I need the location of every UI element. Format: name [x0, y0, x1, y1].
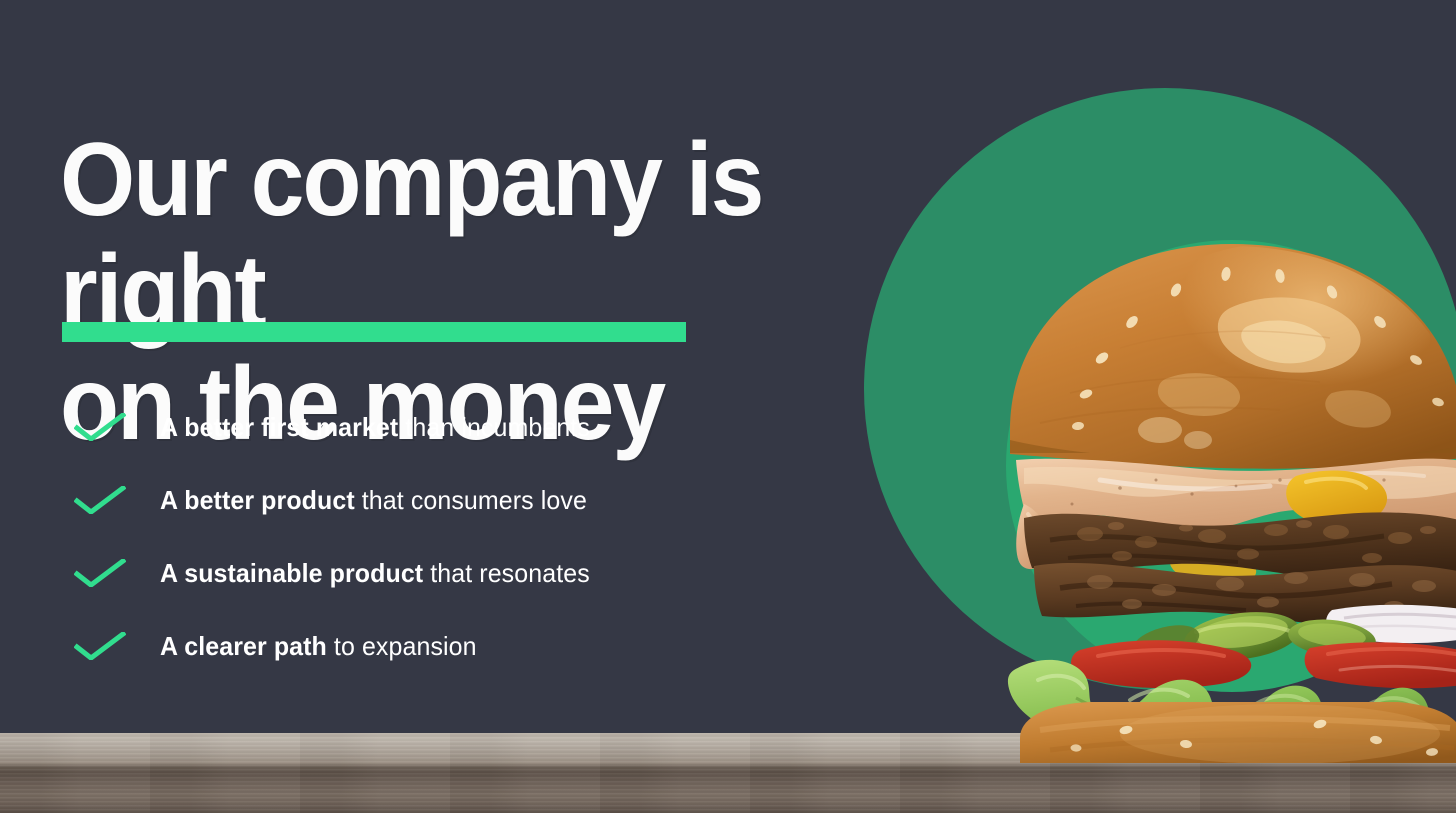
cheeseburger-photo	[980, 218, 1456, 763]
list-item-bold: A better product	[160, 485, 355, 515]
check-icon	[74, 559, 126, 587]
bun-top	[1010, 243, 1456, 469]
bun-bottom	[1020, 702, 1456, 763]
list-item-rest: that resonates	[423, 558, 590, 588]
list-item: A clearer path to expansion	[60, 609, 608, 682]
list-item-rest: that consumers love	[355, 485, 587, 515]
list-item-label: A clearer path to expansion	[160, 631, 477, 661]
list-item-rest: to expansion	[327, 631, 477, 661]
list-item: A better product that consumers love	[60, 463, 608, 536]
list-item-bold: A clearer path	[160, 631, 327, 661]
list-item-bold: A sustainable product	[160, 558, 423, 588]
list-item-rest: than incumbents	[398, 412, 590, 442]
benefits-list: A better first market than incumbents A …	[60, 390, 608, 682]
check-icon	[74, 632, 126, 660]
list-item: A better first market than incumbents	[60, 390, 608, 463]
presentation-slide: Our company is right on the money A bett…	[0, 0, 1456, 813]
headline-accent-underline	[62, 322, 686, 342]
list-item: A sustainable product that resonates	[60, 536, 608, 609]
check-icon	[74, 413, 126, 441]
list-item-label: A better product that consumers love	[160, 485, 587, 515]
list-item-bold: A better first market	[160, 412, 398, 442]
list-item-label: A better first market than incumbents	[160, 412, 590, 442]
list-item-label: A sustainable product that resonates	[160, 558, 590, 588]
check-icon	[74, 486, 126, 514]
